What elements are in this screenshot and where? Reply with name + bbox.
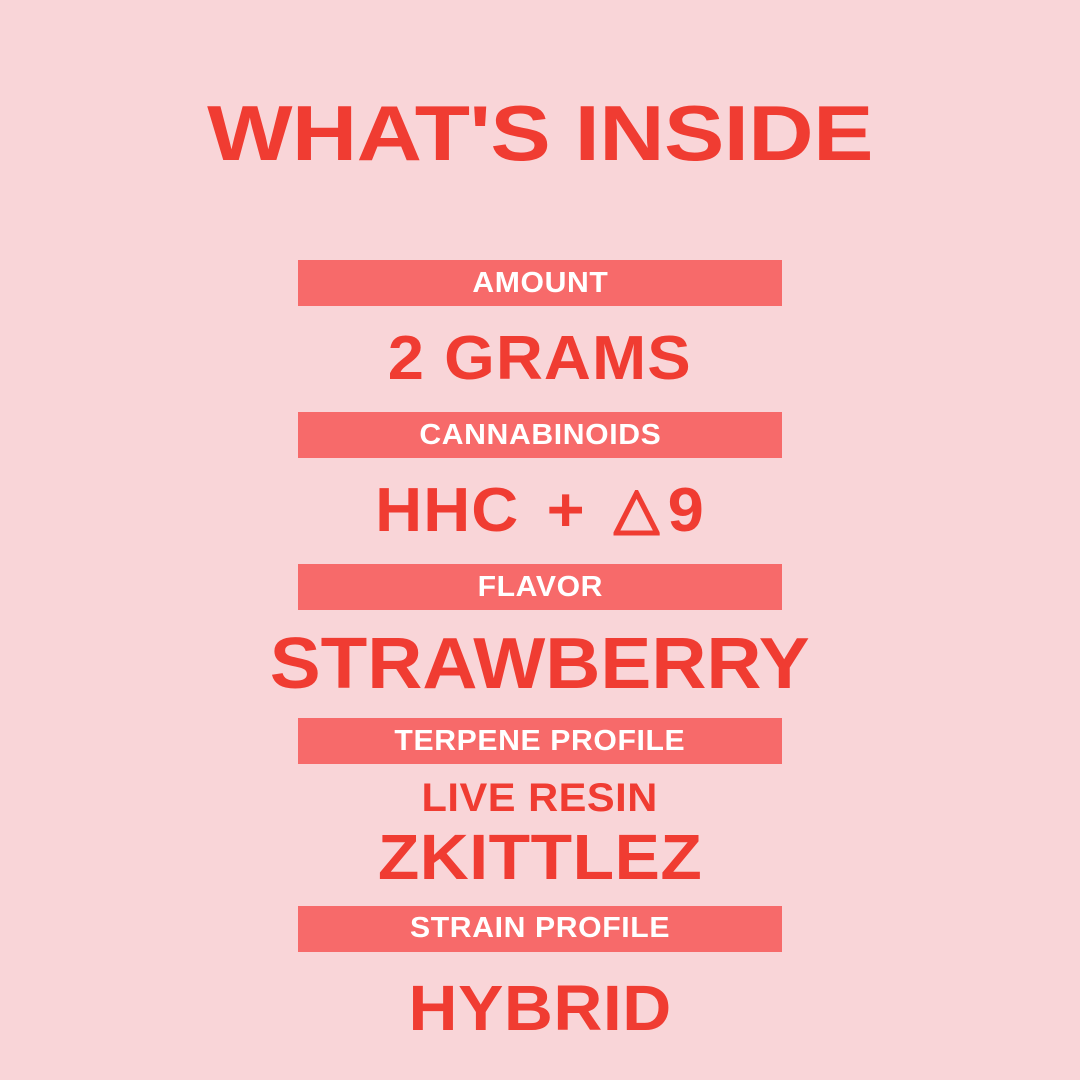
cannabinoid-first: HHC [375,480,519,542]
spec-label-flavor: FLAVOR [477,573,602,602]
spec-label-bar-cannabinoids: CANNABINOIDS [298,412,782,458]
spec-row-terpene-profile: TERPENE PROFILE LIVE RESIN ZKITTLEZ [0,718,1080,905]
spec-row-amount: AMOUNT 2 GRAMS [0,260,1080,412]
spec-value-terpene-profile: LIVE RESIN ZKITTLEZ [387,778,693,891]
spec-value-amount: 2 GRAMS [388,328,692,390]
spec-list: AMOUNT 2 GRAMS CANNABINOIDS HHC + 9 [0,260,1080,1039]
cannabinoid-second: 9 [668,480,705,542]
spec-row-cannabinoids: CANNABINOIDS HHC + 9 [0,412,1080,564]
spec-label-terpene-profile: TERPENE PROFILE [395,727,686,756]
spec-value-flavor: STRAWBERRY [270,628,810,700]
spec-value-terpene-line-2: ZKITTLEZ [378,824,703,891]
spec-value-terpene-line-1: LIVE RESIN [422,778,658,818]
delta-triangle-icon [613,490,659,536]
spec-row-flavor: FLAVOR STRAWBERRY [0,564,1080,718]
spec-label-bar-flavor: FLAVOR [298,564,782,610]
spec-value-cannabinoids: HHC + 9 [375,480,705,542]
whats-inside-card: WHAT'S INSIDE AMOUNT 2 GRAMS CANNABINOID… [0,0,1080,1080]
spec-label-strain-profile: STRAIN PROFILE [410,914,670,943]
spec-row-strain-profile: STRAIN PROFILE HYBRID [0,906,1080,1040]
spec-label-bar-terpene-profile: TERPENE PROFILE [298,718,782,764]
spec-value-strain-profile: HYBRID [408,976,671,1040]
spec-label-bar-amount: AMOUNT [298,260,782,306]
page-title: WHAT'S INSIDE [207,96,873,170]
spec-label-bar-strain-profile: STRAIN PROFILE [298,906,782,952]
plus-operator: + [547,480,586,542]
spec-label-amount: AMOUNT [472,269,608,298]
spec-label-cannabinoids: CANNABINOIDS [419,421,661,450]
